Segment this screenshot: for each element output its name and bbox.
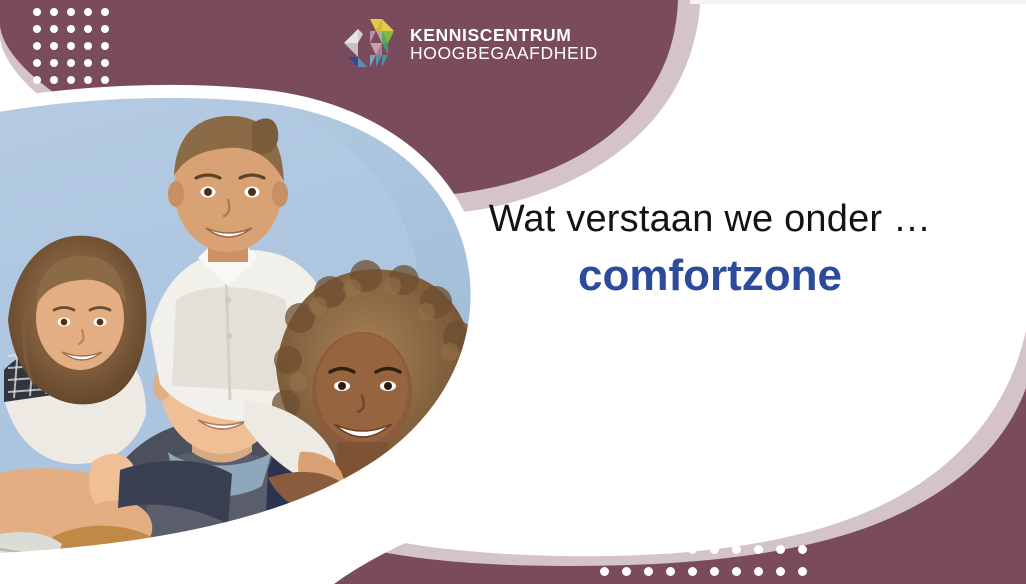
dot: [710, 545, 719, 554]
dot: [798, 523, 807, 532]
dot: [50, 8, 58, 16]
dot: [33, 76, 41, 84]
dot: [798, 567, 807, 576]
dot: [688, 567, 697, 576]
dot: [732, 523, 741, 532]
dot: [600, 567, 609, 576]
dot: [101, 76, 109, 84]
dot: [50, 42, 58, 50]
logo-line-kenniscentrum: KENNISCENTRUM: [410, 26, 598, 44]
dot: [101, 8, 109, 16]
dot: [688, 545, 697, 554]
dot: [50, 25, 58, 33]
dot: [622, 545, 631, 554]
top-hairline: [690, 0, 1026, 4]
dot: [776, 523, 785, 532]
dot: [67, 42, 75, 50]
dot: [644, 567, 653, 576]
kenniscentrum-logo: KENNISCENTRUM HOOGBEGAAFDHEID: [340, 12, 600, 74]
dot: [67, 25, 75, 33]
dot: [101, 25, 109, 33]
dot: [67, 76, 75, 84]
dot: [84, 25, 92, 33]
dot: [67, 8, 75, 16]
dot: [710, 567, 719, 576]
slide-title-block: Wat verstaan we onder … comfortzone: [470, 196, 950, 303]
dot: [644, 545, 653, 554]
kenniscentrum-k-logo-icon: [340, 13, 398, 73]
slide-title-question: Wat verstaan we onder …: [470, 196, 950, 243]
dot: [50, 76, 58, 84]
dot: [666, 545, 675, 554]
dot: [622, 567, 631, 576]
dot: [754, 545, 763, 554]
dot: [776, 545, 785, 554]
dot: [666, 523, 675, 532]
dot: [84, 59, 92, 67]
dot: [688, 523, 697, 532]
dot: [776, 567, 785, 576]
dot: [101, 42, 109, 50]
dot: [798, 545, 807, 554]
dot: [50, 59, 58, 67]
slide-canvas: KENNISCENTRUM HOOGBEGAAFDHEID Wat versta…: [0, 0, 1026, 584]
slide-title-keyword: comfortzone: [470, 249, 950, 303]
dot: [33, 8, 41, 16]
dot: [600, 545, 609, 554]
dot: [644, 523, 653, 532]
dot: [84, 42, 92, 50]
dot: [666, 567, 675, 576]
dot: [732, 567, 741, 576]
dot-grid-top-left: [33, 8, 118, 93]
dot: [33, 25, 41, 33]
dot: [67, 59, 75, 67]
dot: [732, 545, 741, 554]
dot: [622, 523, 631, 532]
dot: [600, 523, 609, 532]
logo-line-hoogbegaafdheid: HOOGBEGAAFDHEID: [410, 44, 598, 62]
dot: [84, 8, 92, 16]
dot: [84, 76, 92, 84]
dot: [754, 567, 763, 576]
dot: [754, 523, 763, 532]
logo-wordmark: KENNISCENTRUM HOOGBEGAAFDHEID: [410, 24, 598, 62]
dot: [101, 59, 109, 67]
dot-grid-bottom: [600, 523, 820, 584]
dot: [33, 59, 41, 67]
dot: [710, 523, 719, 532]
dot: [33, 42, 41, 50]
